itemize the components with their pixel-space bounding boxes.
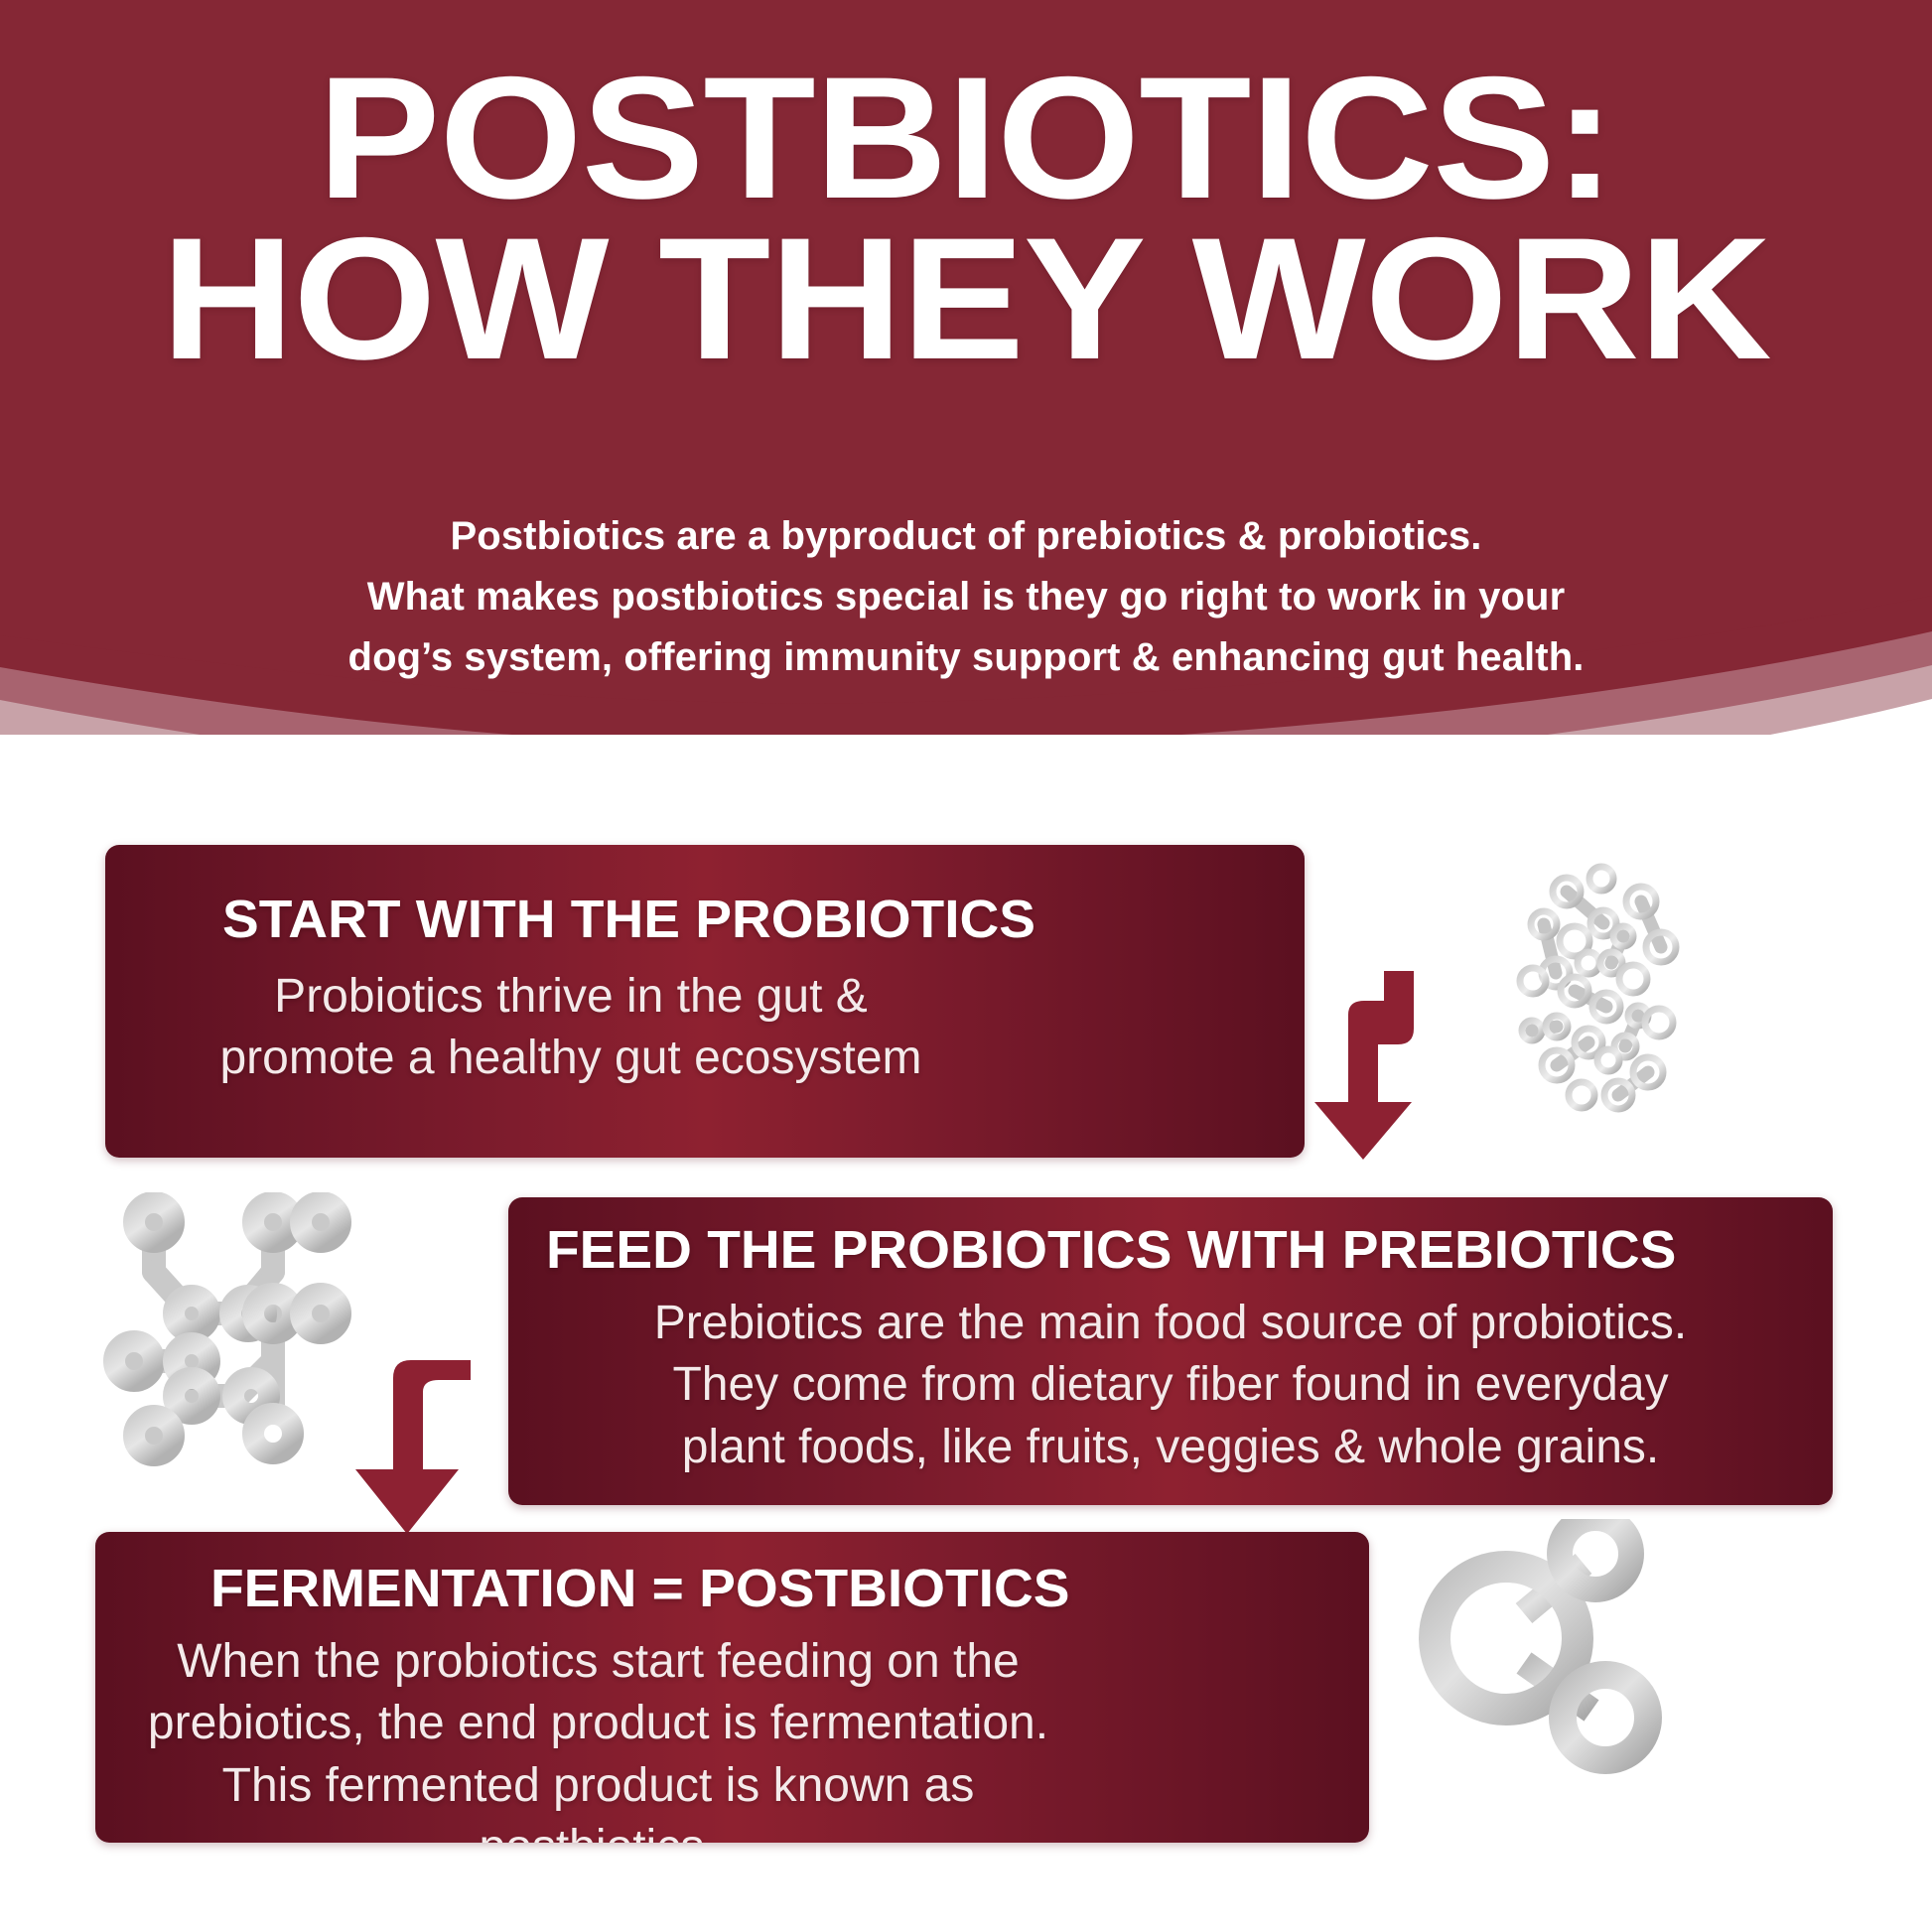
step-card-2-heading: FEED THE PROBIOTICS WITH PREBIOTICS — [546, 1223, 1833, 1277]
step-card-1-content: START WITH THE PROBIOTICS Probiotics thr… — [105, 845, 1305, 1090]
step-card-2: FEED THE PROBIOTICS WITH PREBIOTICS Preb… — [508, 1197, 1833, 1505]
header-banner: POSTBIOTICS: HOW THEY WORK Postbiotics a… — [0, 0, 1932, 735]
step-card-3-content: FERMENTATION = POSTBIOTICS When the prob… — [95, 1532, 1369, 1843]
step-card-2-body-line-2: They come from dietary fiber found in ev… — [538, 1354, 1803, 1416]
subtitle-line-3: dog’s system, offering immunity support … — [0, 627, 1932, 688]
subtitle-line-1: Postbiotics are a byproduct of prebiotic… — [0, 506, 1932, 567]
step-card-3-body-line-1: When the probiotics start feeding on the — [115, 1631, 1081, 1693]
step-card-2-body: Prebiotics are the main food source of p… — [508, 1293, 1833, 1478]
step-card-1-body: Probiotics thrive in the gut & promote a… — [105, 966, 1305, 1090]
title-line-2: HOW THEY WORK — [0, 216, 1932, 383]
step-card-1-heading: START WITH THE PROBIOTICS — [222, 893, 1305, 946]
arrow-2-shape — [355, 1330, 471, 1534]
arrow-1-shape — [1314, 971, 1414, 1160]
bacteria-cluster-icon — [1445, 852, 1742, 1125]
step-card-1-body-line-2: promote a healthy gut ecosystem — [165, 1028, 977, 1089]
flow-arrow-1 — [1312, 971, 1432, 1170]
step-card-3-body: When the probiotics start feeding on the… — [95, 1631, 1369, 1843]
header-subtitle: Postbiotics are a byproduct of prebiotic… — [0, 506, 1932, 687]
flow-arrow-2 — [344, 1330, 473, 1544]
step-card-3-body-line-2: prebiotics, the end product is fermentat… — [115, 1693, 1081, 1754]
step-card-2-content: FEED THE PROBIOTICS WITH PREBIOTICS Preb… — [508, 1197, 1833, 1478]
step-card-3: FERMENTATION = POSTBIOTICS When the prob… — [95, 1532, 1369, 1843]
step-card-3-heading: FERMENTATION = POSTBIOTICS — [210, 1562, 1369, 1615]
page-title: POSTBIOTICS: HOW THEY WORK — [0, 56, 1932, 383]
title-line-1: POSTBIOTICS: — [0, 56, 1932, 222]
step-card-1-body-line-1: Probiotics thrive in the gut & — [165, 966, 977, 1028]
step-card-2-body-line-1: Prebiotics are the main food source of p… — [538, 1293, 1803, 1354]
step-card-3-body-line-3: This fermented product is known as postb… — [115, 1755, 1081, 1843]
molecule-trimer-icon — [1415, 1519, 1742, 1837]
step-card-1: START WITH THE PROBIOTICS Probiotics thr… — [105, 845, 1305, 1158]
step-card-2-body-line-3: plant foods, like fruits, veggies & whol… — [538, 1417, 1803, 1478]
subtitle-line-2: What makes postbiotics special is they g… — [0, 567, 1932, 627]
